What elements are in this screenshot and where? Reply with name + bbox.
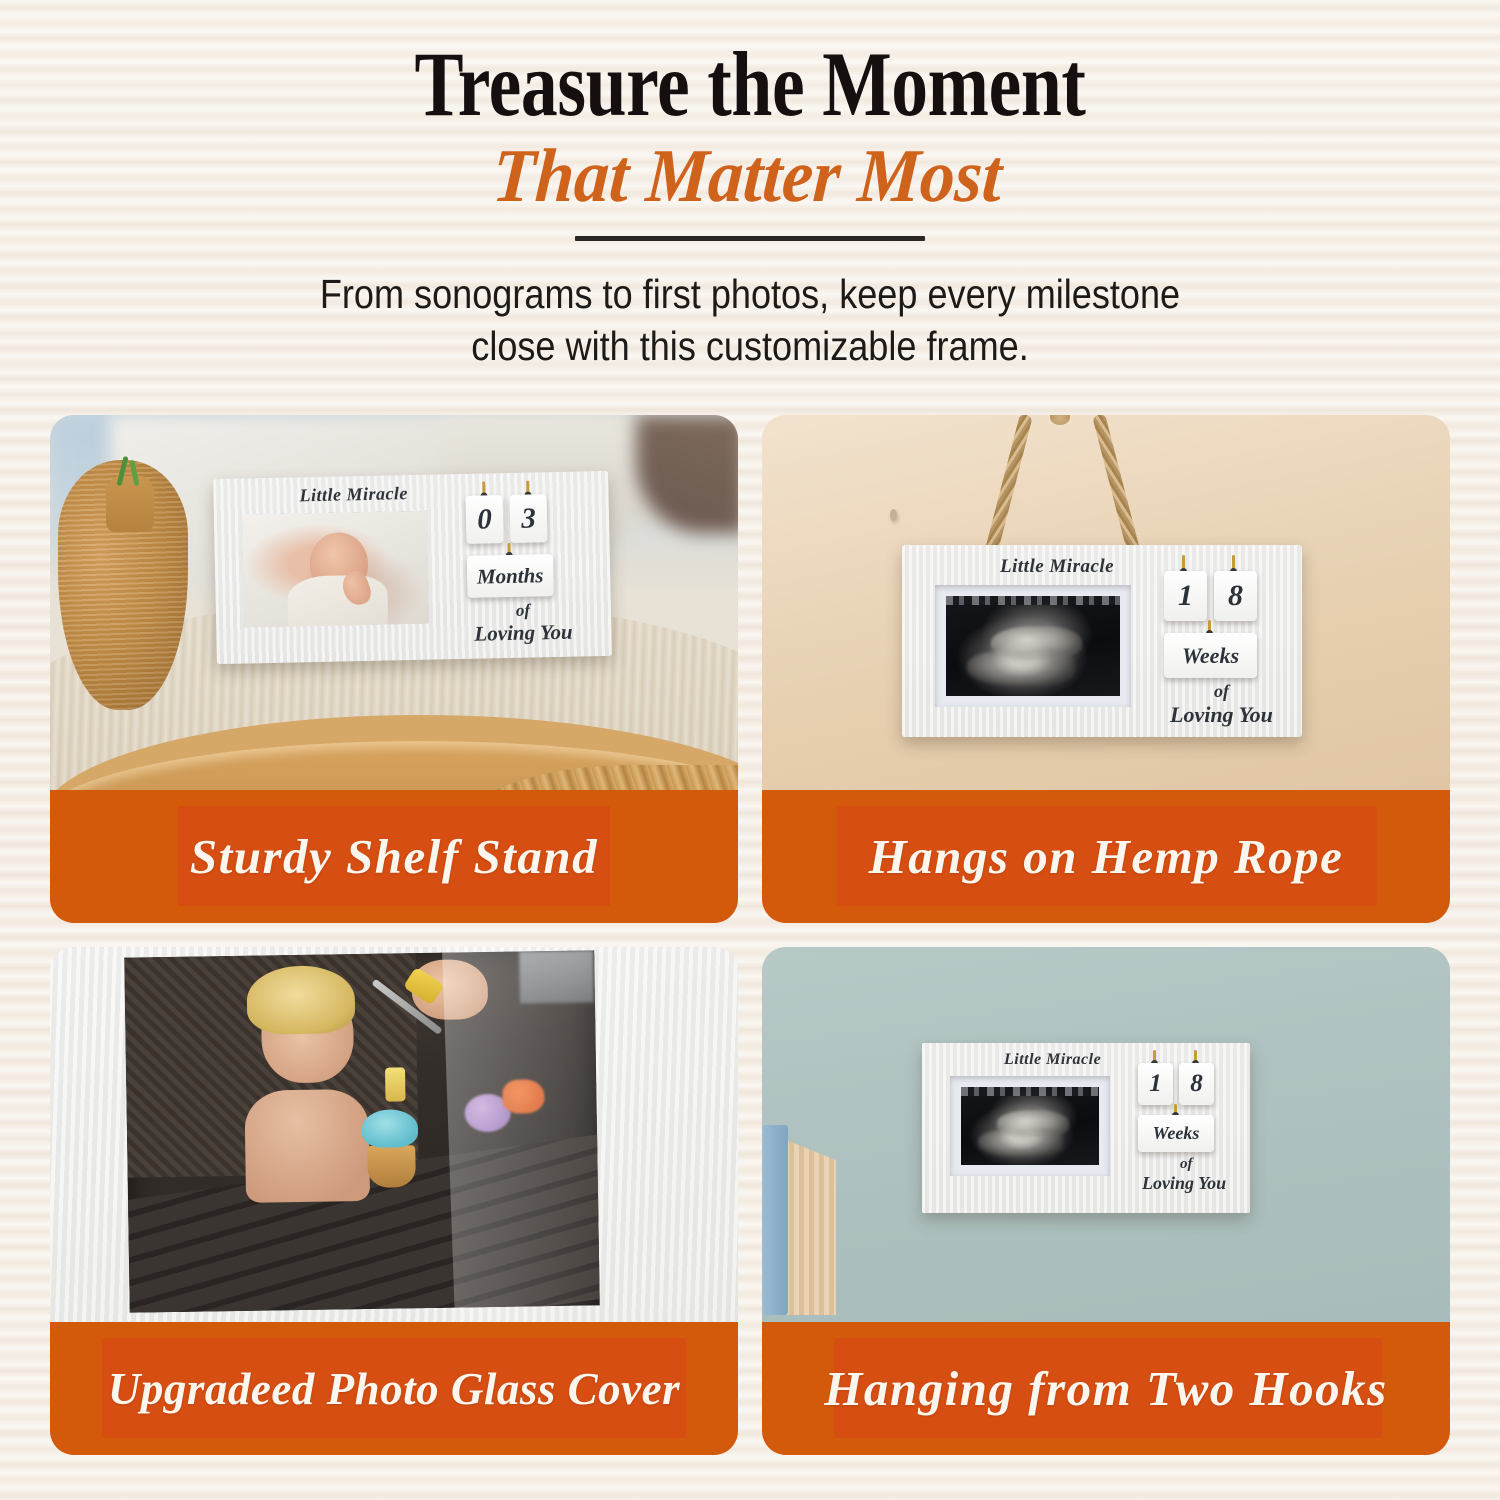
sonogram-photo xyxy=(946,596,1120,696)
printed-photo xyxy=(124,950,600,1312)
tile-hook-icon xyxy=(526,481,529,496)
scene-frame-closeup xyxy=(50,947,738,1322)
toddler-torso xyxy=(244,1089,370,1203)
tile-hook-icon xyxy=(1153,1050,1156,1064)
tile-hook-icon xyxy=(1194,1050,1197,1064)
wall-nail-icon xyxy=(890,509,897,521)
sonogram-photo xyxy=(961,1087,1099,1165)
cupcake-frosting xyxy=(362,1109,419,1148)
tile-hook-icon xyxy=(482,481,485,496)
scene-nursery-wall: Little Miracle 1 8 xyxy=(762,947,1450,1322)
frame-loving-you-text: Loving You xyxy=(1170,702,1273,728)
panel-caption: Upgradeed Photo Glass Cover xyxy=(50,1322,738,1455)
panel-hangs-on-hemp-rope[interactable]: Little Miracle 1 8 xyxy=(762,415,1450,923)
product-frame: Little Miracle 1 8 xyxy=(922,1043,1250,1213)
vase-neck xyxy=(106,476,154,532)
frame-photo-window xyxy=(242,511,429,628)
frame-photo-window xyxy=(950,1076,1110,1176)
sonogram-info-bar xyxy=(946,596,1120,605)
tile-hook-icon xyxy=(1208,620,1211,634)
caption-bar: Upgradeed Photo Glass Cover xyxy=(50,1322,738,1455)
page-subtitle-script: That Matter Most xyxy=(55,135,1440,217)
header-description: From sonograms to first photos, keep eve… xyxy=(292,268,1207,372)
panel-photo-hemp-rope: Little Miracle 1 8 xyxy=(762,415,1450,790)
number-tile-right: 8 xyxy=(1214,571,1257,621)
panel-caption: Hangs on Hemp Rope xyxy=(762,790,1450,923)
panel-sturdy-shelf-stand[interactable]: Little Miracle 0 3 xyxy=(50,415,738,923)
frame-loving-you-text: Loving You xyxy=(1142,1173,1226,1194)
panel-upgradeed-photo-glass-cover[interactable]: Upgradeed Photo Glass Cover xyxy=(50,947,738,1455)
caption-bar: Hangs on Hemp Rope xyxy=(762,790,1450,923)
infographic-page: Treasure the Moment That Matter Most Fro… xyxy=(0,0,1500,1500)
background-toy xyxy=(502,1079,545,1114)
panel-caption: Hanging from Two Hooks xyxy=(762,1322,1450,1455)
bunk-bed-rail xyxy=(762,1125,788,1315)
unit-tile: Months xyxy=(467,554,554,598)
header: Treasure the Moment That Matter Most Fro… xyxy=(0,0,1500,400)
panel-hanging-from-two-hooks[interactable]: Little Miracle 1 8 xyxy=(762,947,1450,1455)
panel-caption: Sturdy Shelf Stand xyxy=(50,790,738,923)
sonogram-body xyxy=(967,650,1075,686)
panel-photo-glass-cover xyxy=(50,947,738,1322)
frame-title-text: Little Miracle xyxy=(1004,1051,1101,1069)
hemp-rope-right xyxy=(1092,415,1142,560)
unit-tile: Weeks xyxy=(1164,633,1257,678)
header-divider xyxy=(575,236,925,241)
scene-living-room: Little Miracle 0 3 xyxy=(50,415,738,790)
number-tile-left: 1 xyxy=(1138,1063,1173,1105)
baby-blanket xyxy=(288,575,389,628)
tile-hook-icon xyxy=(1232,555,1235,572)
toddler-hair xyxy=(247,965,356,1035)
caption-bar: Hanging from Two Hooks xyxy=(762,1322,1450,1455)
frame-title-text: Little Miracle xyxy=(1000,556,1114,578)
sonogram-body xyxy=(978,1129,1064,1157)
baby-photo xyxy=(242,511,429,628)
frame-of-text: of xyxy=(1180,1156,1193,1173)
number-tile-left: 0 xyxy=(466,495,504,544)
product-frame: Little Miracle 1 8 xyxy=(902,545,1302,737)
number-tile-right: 3 xyxy=(510,494,548,543)
scene-beige-wall: Little Miracle 1 8 xyxy=(762,415,1450,790)
sonogram-info-bar xyxy=(961,1087,1099,1096)
product-frame: Little Miracle 0 3 xyxy=(213,471,612,664)
panel-photo-two-hooks: Little Miracle 1 8 xyxy=(762,947,1450,1322)
frame-photo-window xyxy=(935,585,1131,707)
rope-peak xyxy=(1050,415,1070,425)
number-tile-right: 8 xyxy=(1179,1063,1214,1105)
birthday-candle-icon xyxy=(384,1067,405,1101)
cupcake-base xyxy=(367,1145,416,1188)
unit-tile: Weeks xyxy=(1138,1115,1214,1152)
background-bin xyxy=(519,950,594,1003)
frame-title-text: Little Miracle xyxy=(299,483,408,506)
hemp-rope-left xyxy=(983,415,1033,560)
tile-hook-icon xyxy=(1182,555,1185,572)
caption-bar: Sturdy Shelf Stand xyxy=(50,790,738,923)
wooden-vase xyxy=(58,460,188,710)
frame-of-text: of xyxy=(1214,681,1229,702)
page-title: Treasure the Moment xyxy=(150,38,1350,130)
number-tile-left: 1 xyxy=(1164,571,1207,621)
feature-panel-grid: Little Miracle 0 3 xyxy=(50,415,1450,1450)
frame-of-text: of xyxy=(516,601,531,621)
panel-photo-shelf-stand: Little Miracle 0 3 xyxy=(50,415,738,790)
frame-loving-you-text: Loving You xyxy=(474,620,573,647)
bunk-bed-panel xyxy=(784,1139,836,1315)
